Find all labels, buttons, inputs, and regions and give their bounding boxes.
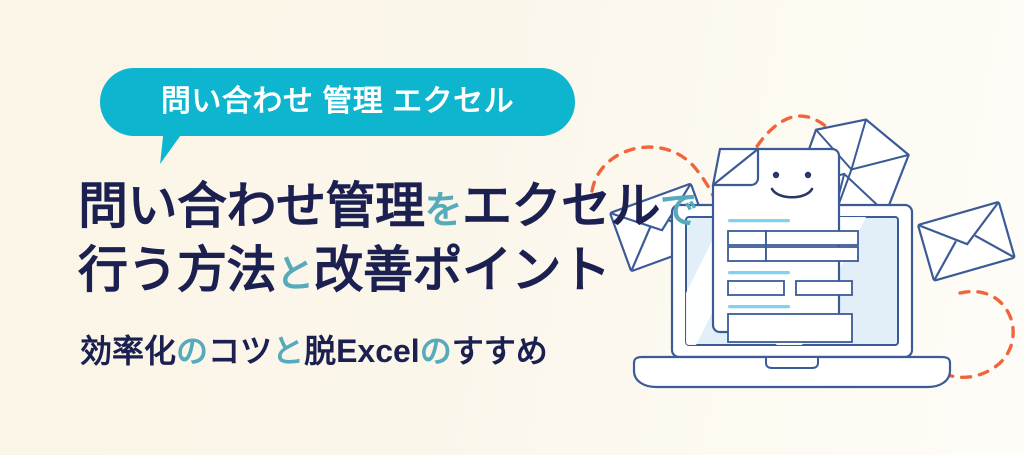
form-label-line-3 bbox=[728, 305, 790, 308]
subtitle-part1: 効率化 bbox=[80, 333, 176, 369]
form-field-row2-right bbox=[766, 247, 858, 261]
headline-l2-particle1: と bbox=[276, 254, 314, 296]
form-field-row2-left bbox=[728, 247, 766, 261]
headline-l1-part1: 問い合わせ管理 bbox=[78, 178, 425, 234]
subtitle-particle1: の bbox=[176, 333, 208, 369]
hero-banner: 問い合わせ 管理 エクセル 問い合わせ管理をエクセルで 行う方法と改善ポイント … bbox=[0, 0, 1024, 455]
form-label-line-1 bbox=[728, 219, 790, 222]
document-form bbox=[713, 149, 858, 342]
subtitle-particle2: と bbox=[272, 333, 304, 369]
form-field-row3-right bbox=[796, 281, 852, 295]
headline-line-2: 行う方法と改善ポイント bbox=[78, 238, 678, 302]
form-field-textarea bbox=[728, 314, 852, 342]
headline-l1-part2: エクセル bbox=[462, 178, 660, 234]
headline-l2-part2: 改善ポイント bbox=[314, 242, 611, 298]
form-field-row1-right bbox=[766, 231, 858, 245]
badge-pill: 問い合わせ 管理 エクセル bbox=[100, 68, 575, 136]
headline-line-1: 問い合わせ管理をエクセルで bbox=[78, 174, 678, 238]
headline-l2-part1: 行う方法 bbox=[78, 242, 276, 298]
page-subtitle: 効率化のコツと脱Excelのすすめ bbox=[80, 332, 548, 370]
envelope-closed-right bbox=[918, 202, 1015, 281]
form-field-row1-left bbox=[728, 231, 766, 245]
badge-label: 問い合わせ 管理 エクセル bbox=[161, 87, 514, 117]
subtitle-part2: コツ bbox=[208, 333, 272, 369]
subtitle-part3: 脱Excel bbox=[304, 333, 420, 369]
page-title: 問い合わせ管理をエクセルで 行う方法と改善ポイント bbox=[78, 174, 678, 302]
form-field-row3-left bbox=[728, 281, 784, 295]
headline-l1-particle2: で bbox=[660, 190, 698, 232]
headline-l1-particle1: を bbox=[425, 190, 463, 232]
subtitle-part4: すすめ bbox=[452, 333, 548, 369]
subtitle-particle3: の bbox=[420, 333, 452, 369]
badge: 問い合わせ 管理 エクセル bbox=[100, 68, 575, 168]
form-label-line-2 bbox=[728, 271, 790, 274]
